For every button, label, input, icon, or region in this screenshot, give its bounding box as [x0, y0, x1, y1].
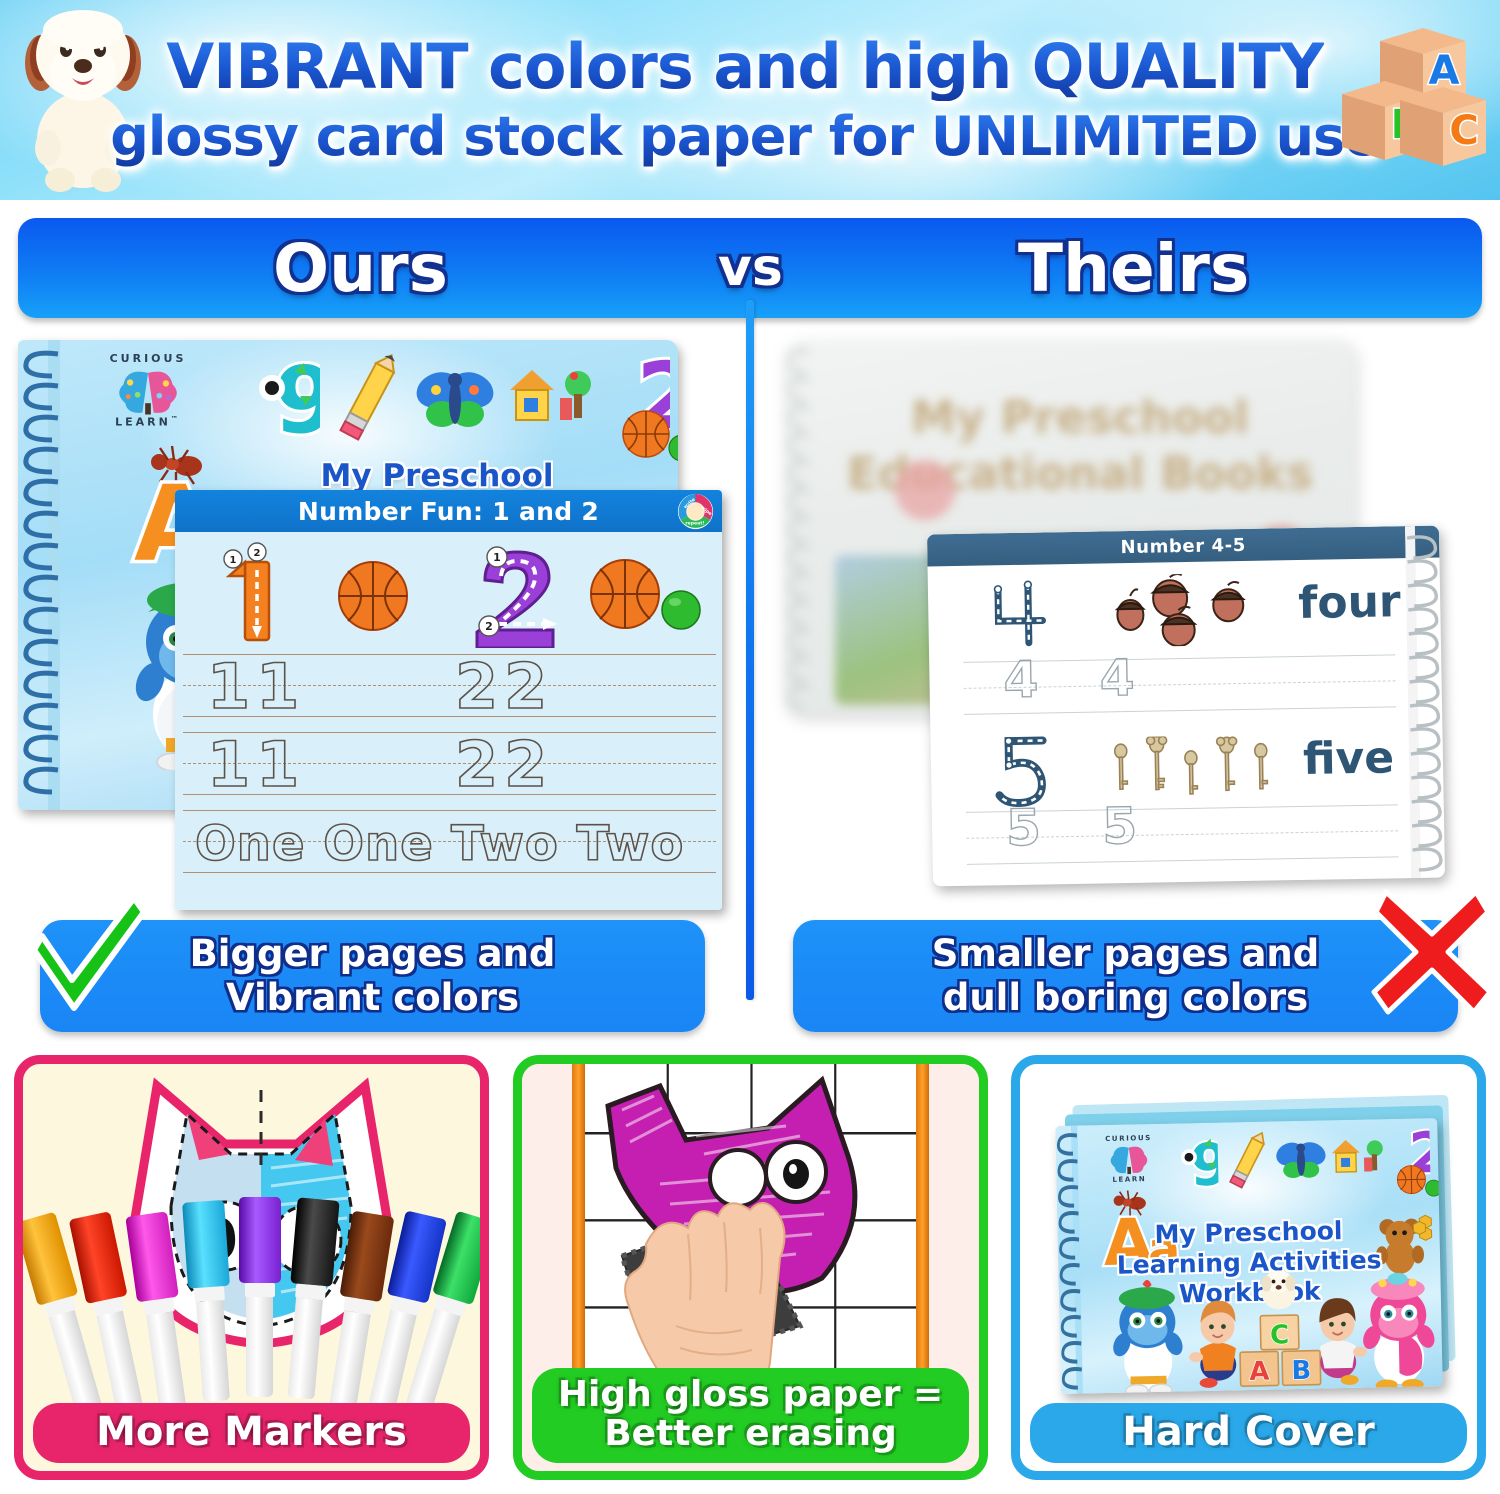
- number-nine-sticker: 9: [1163, 1133, 1218, 1196]
- trace-row: One One Two Two: [183, 810, 716, 888]
- spiral-binding-icon: [785, 340, 815, 715]
- orange-spine-right: [916, 1064, 929, 1399]
- panel-high-gloss: High gloss paper = Better erasing: [513, 1055, 988, 1480]
- ant-sticker: [1109, 1186, 1150, 1217]
- traceable-number-2: 1 2: [467, 540, 571, 648]
- traceable-number-4: [984, 578, 1057, 649]
- write-wipe-repeat-badge: write wipe repeat!: [677, 493, 714, 530]
- ours-worksheet-header: Number Fun: 1 and 2 write wipe repeat!: [175, 490, 722, 532]
- header-banner: VIBRANT colors and high QUALITY glossy c…: [0, 0, 1500, 200]
- trace-row: 11 22: [183, 654, 716, 732]
- number-word-five: five: [1303, 732, 1395, 785]
- ours-worksheet: Number Fun: 1 and 2 write wipe repeat!: [175, 490, 722, 910]
- trace-word-right: Two Two: [451, 816, 684, 872]
- green-check-icon: [22, 892, 152, 1012]
- butterfly-sticker: [412, 356, 498, 436]
- trace-word-left: One One: [195, 816, 434, 872]
- spiral-binding-icon: [18, 340, 60, 810]
- curious-2-learn-logo: CURIOUS LEARN™: [100, 352, 196, 429]
- theirs-worksheet: Number 4-5: [927, 526, 1445, 887]
- headline-line-1: VIBRANT colors and high QUALITY: [166, 32, 1323, 101]
- curious-2-learn-logo: CURIOUS LEARN: [1097, 1134, 1160, 1184]
- house-shapes-sticker: [1327, 1129, 1386, 1184]
- svg-text:C: C: [1270, 1320, 1290, 1350]
- hard-cover-label-text: Hard Cover: [1122, 1410, 1375, 1454]
- red-x-icon: [1368, 886, 1498, 1018]
- headline-line-2: glossy card stock paper for UNLIMITED us…: [110, 107, 1380, 167]
- abc-blocks-icon: A B C: [1338, 16, 1488, 186]
- brain-tree-icon: [115, 365, 181, 415]
- svg-text:repeat!: repeat!: [685, 520, 704, 526]
- ours-cover-title-line1: My Preschool: [302, 458, 572, 494]
- decorative-dot: [895, 460, 955, 520]
- balls-sticker: [1396, 1164, 1443, 1199]
- theirs-worksheet-title: Number 4-5: [1120, 534, 1246, 557]
- panel-hard-cover: CURIOUS LEARN 9: [1011, 1055, 1486, 1480]
- svg-text:1: 1: [493, 551, 501, 564]
- traceable-number-5: [988, 732, 1061, 807]
- theirs-caption-pill: Smaller pages and dull boring colors: [793, 920, 1458, 1032]
- theirs-caption-line-1: Smaller pages and: [932, 932, 1320, 976]
- trace-text-left: 11: [207, 650, 305, 723]
- hard-cover-label-bar: Hard Cover: [1030, 1403, 1467, 1463]
- svg-text:A: A: [1249, 1357, 1270, 1387]
- number-word-four: four: [1298, 576, 1401, 629]
- comparison-region: CURIOUS LEARN™ 9: [0, 318, 1500, 918]
- theirs-caption-line-2: dull boring colors: [943, 976, 1308, 1020]
- panel-more-markers: More Markers: [14, 1055, 489, 1480]
- svg-text:1: 1: [230, 555, 237, 566]
- two-balls-icon: [587, 556, 703, 636]
- blue-dino-character: [1106, 1275, 1188, 1394]
- gloss-label-line-1: High gloss paper =: [558, 1375, 943, 1415]
- house-shapes-sticker: [504, 354, 596, 440]
- trace-text-right: 22: [455, 650, 553, 723]
- brain-tree-icon: [1108, 1142, 1151, 1175]
- hand-with-cloth: [584, 1156, 854, 1396]
- tracing-practice-rows: 11 22 11 22 One One Two Two: [183, 654, 716, 888]
- pencil-sticker: [334, 350, 406, 442]
- gloss-label-line-2: Better erasing: [604, 1414, 897, 1454]
- svg-text:C: C: [1449, 108, 1478, 154]
- ours-caption-line-1: Bigger pages and: [190, 932, 556, 976]
- theirs-label: Theirs: [1018, 230, 1249, 307]
- spiral-binding-icon: [1405, 526, 1445, 879]
- balls-sticker: [622, 410, 678, 464]
- traceable-number-1: 1 2: [211, 540, 299, 648]
- keys-five-icon: [1109, 734, 1280, 801]
- trace-five-row: 5 5: [1006, 796, 1160, 857]
- number-nine-sticker: 9: [232, 352, 320, 450]
- ours-worksheet-body: 1 2 1 2: [175, 532, 722, 910]
- trace-text-right: 22: [455, 728, 553, 801]
- markers-label-bar: More Markers: [33, 1403, 470, 1463]
- trace-row: 11 22: [183, 732, 716, 810]
- kids-blocks-puppy-illustration: A B C: [1184, 1265, 1377, 1391]
- markers-label-text: More Markers: [96, 1410, 407, 1454]
- svg-text:2: 2: [254, 548, 261, 559]
- pencil-sticker: [1225, 1130, 1272, 1191]
- workbook-cover-image: CURIOUS LEARN 9: [1055, 1118, 1443, 1394]
- gloss-label-bar: High gloss paper = Better erasing: [532, 1368, 969, 1463]
- ours-worksheet-title: Number Fun: 1 and 2: [298, 497, 599, 526]
- ours-label: Ours: [273, 230, 448, 307]
- ours-caption-line-2: Vibrant colors: [226, 976, 519, 1020]
- marker-purple: [239, 1197, 285, 1397]
- pink-dino-character: [1356, 1268, 1440, 1390]
- svg-text:2: 2: [485, 620, 493, 633]
- svg-text:A: A: [1429, 48, 1460, 94]
- basketball-one-icon: [337, 560, 409, 632]
- trace-text-left: 11: [207, 728, 305, 801]
- svg-text:B: B: [1291, 1356, 1311, 1386]
- svg-text:9: 9: [274, 352, 320, 450]
- butterfly-sticker: [1273, 1132, 1328, 1183]
- vs-label: vs: [718, 238, 783, 298]
- acorns-four-icon: [1108, 573, 1269, 648]
- trace-four-row: 4 4: [1003, 649, 1157, 710]
